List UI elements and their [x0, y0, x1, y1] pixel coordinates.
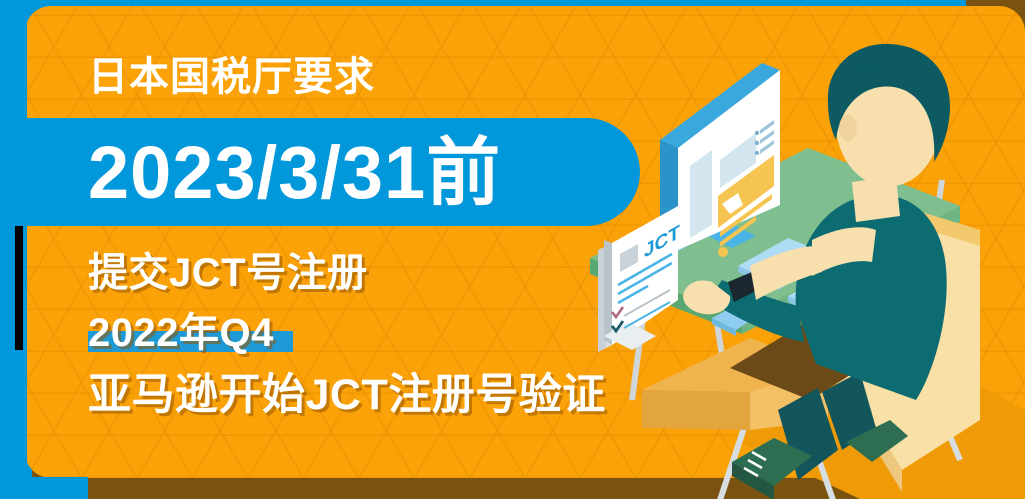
person-at-desk-illustration: JCT [560, 0, 1025, 499]
headline-date: 2023/3/31前 [88, 128, 501, 218]
sub-line-submit-jct: 提交JCT号注册 [88, 240, 368, 298]
sub-line-quarter: 2022年Q4 [88, 300, 274, 358]
black-accent-tick [15, 226, 23, 350]
jct-promo-banner: JCT [0, 0, 1025, 499]
jct-document-icon: JCT [598, 206, 680, 352]
sub-line-amazon-verification: 亚马逊开始JCT注册号验证 [88, 360, 606, 422]
left-blue-rail-bottom [0, 477, 88, 499]
page-title: 日本国税厅要求 [88, 44, 375, 102]
